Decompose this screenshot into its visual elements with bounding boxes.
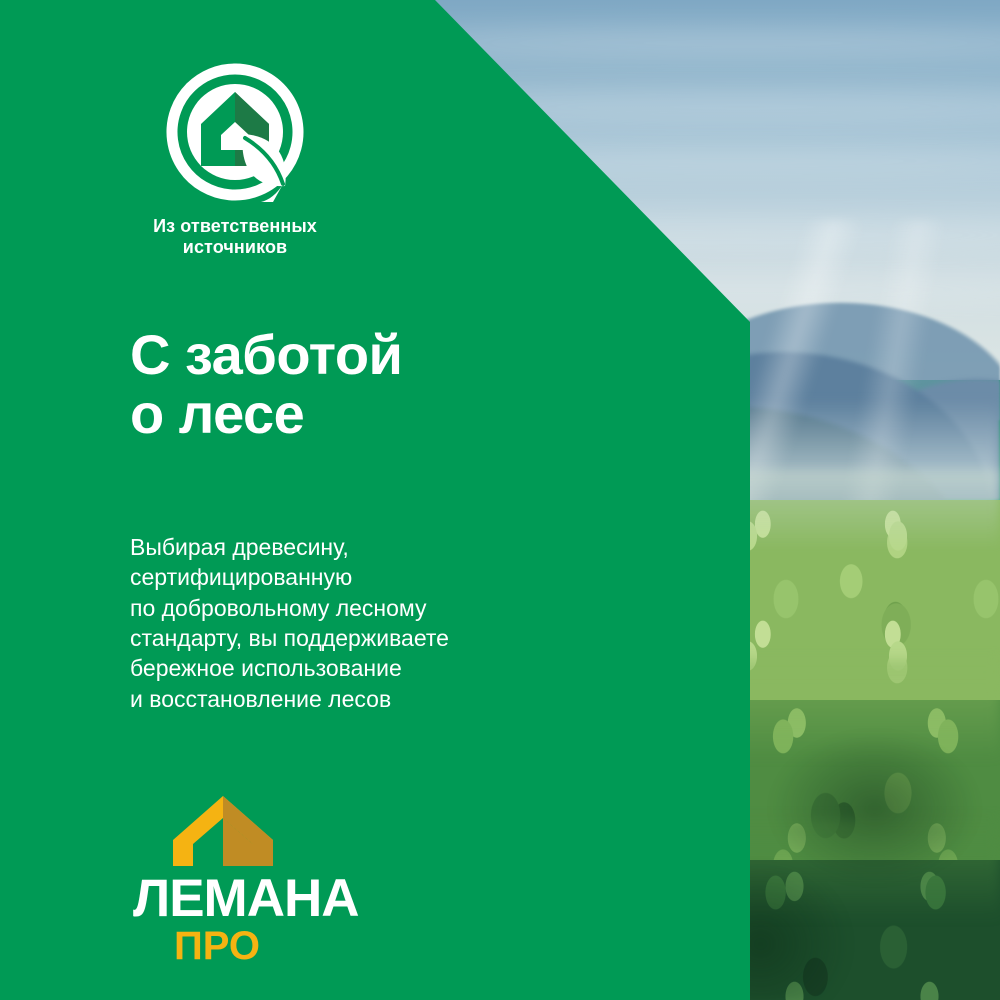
lemana-house-icon: [169, 792, 277, 870]
poster: Из ответственных источников С заботой о …: [0, 0, 1000, 1000]
body-copy: Выбирая древесину, сертифицированную по …: [130, 532, 560, 714]
headline: С заботой о лесе: [130, 325, 550, 444]
poster-content: Из ответственных источников С заботой о …: [0, 0, 1000, 1000]
certification-caption: Из ответственных источников: [130, 216, 340, 258]
house-leaf-circle-icon: [165, 62, 305, 202]
brand-lockup: ЛЕМАНА ПРО: [133, 792, 313, 966]
brand-name: ЛЕМАНА: [133, 874, 313, 924]
certification-badge: Из ответственных источников: [130, 62, 340, 258]
brand-sub-name: ПРО: [133, 926, 301, 966]
